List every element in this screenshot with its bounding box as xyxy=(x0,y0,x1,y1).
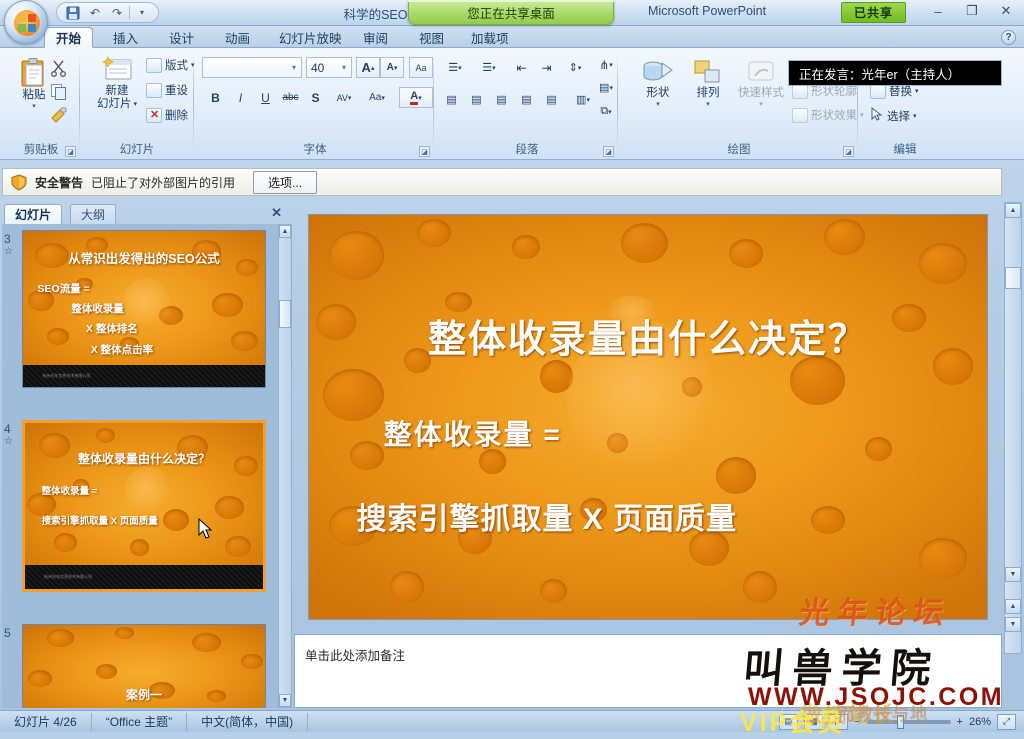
thumbnail-line-4: X 整体点击率 xyxy=(91,342,153,357)
cut-button[interactable] xyxy=(50,59,68,80)
shape-effects-button[interactable]: 形状效果 ▾ xyxy=(792,107,864,123)
office-button[interactable] xyxy=(4,0,48,44)
format-painter-button[interactable] xyxy=(50,107,68,128)
animation-icon: ☆ xyxy=(4,436,13,447)
zoom-in-icon[interactable]: + xyxy=(957,716,963,728)
convert-to-smartart-button[interactable]: ⧉▾ xyxy=(594,101,618,122)
notes-pane[interactable]: 单击此处添加备注 xyxy=(294,634,1002,708)
layout-icon xyxy=(146,58,162,73)
slides-pane-scrollbar[interactable]: ▲ ▼ xyxy=(278,224,292,708)
layout-button[interactable]: 版式 ▾ xyxy=(146,57,195,73)
delete-label: 删除 xyxy=(165,107,188,123)
mouse-cursor xyxy=(198,518,214,540)
thumbnail-frame: 案例一 xyxy=(22,624,266,708)
character-spacing-label: AV xyxy=(337,93,348,103)
select-label: 选择 xyxy=(887,108,910,124)
slide-count-status[interactable]: 幻灯片 4/26 xyxy=(0,713,92,731)
window-controls: – ❐ ✕ xyxy=(926,2,1018,20)
chevron-down-icon[interactable]: ▾ xyxy=(289,63,299,72)
group-separator xyxy=(193,52,194,150)
new-slide-label-line2: 幻灯片 xyxy=(97,98,132,111)
thumbnail-footer: 杭州光年信息技术有限公司 xyxy=(25,565,263,589)
fit-to-window-icon[interactable]: ⤢ xyxy=(997,714,1016,730)
font-size-combo[interactable]: 40 ▾ xyxy=(306,57,352,78)
thumbnail-slide-5[interactable]: 5 案例一 xyxy=(22,624,266,708)
slide-thumbnail-list[interactable]: 3 ☆ xyxy=(2,224,278,708)
security-options-button[interactable]: 选项... xyxy=(253,171,317,194)
tab-review[interactable]: 审阅 xyxy=(352,27,399,48)
reset-label: 重设 xyxy=(165,82,188,98)
notes-placeholder[interactable]: 单击此处添加备注 xyxy=(305,645,405,664)
shape-effects-label: 形状效果 xyxy=(811,107,857,123)
slide-preview: 从常识出发得出的SEO公式 SEO流量 = 整体收录量 X 整体排名 X 整体点… xyxy=(23,231,265,387)
shield-icon xyxy=(11,174,27,191)
character-spacing-button[interactable]: AV ▾ xyxy=(329,87,359,108)
scrollbar-thumb[interactable] xyxy=(279,300,291,328)
thumbnail-line-1: SEO流量 = xyxy=(38,281,90,296)
security-warning-bar: 安全警告 已阻止了对外部图片的引用 选项... xyxy=(2,168,1002,196)
decrease-indent-button[interactable]: ⇤ xyxy=(510,57,533,78)
reset-icon xyxy=(146,83,162,98)
normal-view-icon[interactable]: ▤ xyxy=(779,714,798,730)
slide-editor: 整体收录量由什么决定？ 整体收录量 = 搜索引擎抓取量 X 页面质量 xyxy=(294,202,1002,632)
delete-icon: ✕ xyxy=(146,108,162,123)
chevron-down-icon[interactable]: ▾ xyxy=(339,63,349,72)
close-icon[interactable]: ✕ xyxy=(994,2,1018,20)
scroll-down-icon[interactable]: ▼ xyxy=(1005,567,1021,582)
reset-button[interactable]: 重设 xyxy=(146,82,188,98)
thumbnail-footer-text: 杭州光年信息技术有限公司 xyxy=(23,373,90,379)
tab-slideshow[interactable]: 幻灯片放映 xyxy=(268,27,353,48)
thumbnail-frame: 整体收录量由什么决定？ 整体收录量 = 搜索引擎抓取量 X 页面质量 杭州光年信… xyxy=(22,420,266,592)
undo-icon[interactable]: ↶ xyxy=(85,4,105,21)
numbering-button[interactable]: ☰▾ xyxy=(474,57,504,78)
slide-preview: 整体收录量由什么决定？ 整体收录量 = 搜索引擎抓取量 X 页面质量 杭州光年信… xyxy=(25,423,263,589)
slide-title[interactable]: 整体收录量由什么决定？ xyxy=(309,308,987,363)
grow-font-label: A xyxy=(362,60,371,75)
clear-formatting-button[interactable]: Aa xyxy=(409,57,433,78)
minimize-icon[interactable]: – xyxy=(926,2,950,20)
slide-show-view-icon[interactable]: ▷ xyxy=(829,714,848,730)
thumbnail-number: 3 xyxy=(4,232,11,246)
theme-status[interactable]: “Office 主题” xyxy=(92,713,187,731)
help-icon[interactable]: ? xyxy=(1001,30,1016,45)
tab-addins[interactable]: 加载项 xyxy=(460,27,520,48)
quick-styles-dropdown-icon[interactable]: ▾ xyxy=(759,100,763,108)
distribute-button[interactable]: ▤ xyxy=(540,89,563,110)
current-slide[interactable]: 整体收录量由什么决定？ 整体收录量 = 搜索引擎抓取量 X 页面质量 xyxy=(308,214,988,620)
slide-body-line-2[interactable]: 搜索引擎抓取量 X 页面质量 xyxy=(356,494,737,538)
thumbnail-frame: 从常识出发得出的SEO公式 SEO流量 = 整体收录量 X 整体排名 X 整体点… xyxy=(22,230,266,388)
thumbnail-number: 5 xyxy=(4,626,11,640)
previous-slide-icon[interactable]: ▲ xyxy=(1005,599,1021,614)
tab-outline[interactable]: 大纲 xyxy=(70,204,116,224)
text-shadow-button[interactable]: S xyxy=(304,87,327,108)
application-name: Microsoft PowerPoint xyxy=(648,4,766,18)
paragraph-dialog-launcher-icon[interactable]: ◪ xyxy=(603,146,614,157)
bold-label: B xyxy=(211,91,220,105)
select-button[interactable]: 选择 ▾ xyxy=(870,107,917,124)
redo-icon[interactable]: ↷ xyxy=(107,4,127,21)
thumbnail-title: 从常识出发得出的SEO公式 xyxy=(23,248,265,267)
delete-slide-button[interactable]: ✕ 删除 xyxy=(146,107,188,123)
thumbnail-line-1: 整体收录量 = xyxy=(42,483,98,497)
zoom-percentage[interactable]: 26% xyxy=(969,716,991,728)
status-bar: 幻灯片 4/26 “Office 主题” 中文(简体，中国) ▤ ▦ ▷ − +… xyxy=(0,710,1024,732)
group-clipboard: 粘贴 ▾ xyxy=(2,49,80,159)
close-pane-icon[interactable]: ✕ xyxy=(271,205,282,221)
shapes-label: 形状 xyxy=(647,87,670,100)
thumbnail-number: 4 xyxy=(4,422,11,436)
slide-body-line-1[interactable]: 整体收录量 = xyxy=(384,413,562,453)
shared-status-badge: 已共享 xyxy=(841,2,906,23)
tab-home[interactable]: 开始 xyxy=(44,27,93,48)
status-right-controls: ▤ ▦ ▷ − + 26% ⤢ xyxy=(779,714,1024,730)
change-case-label: Aa xyxy=(369,92,381,103)
justify-button[interactable]: ▤ xyxy=(515,89,538,110)
italic-button[interactable]: I xyxy=(229,87,252,108)
new-slide-button[interactable]: 新建 幻灯片 ▾ xyxy=(88,55,146,111)
group-separator xyxy=(433,52,434,150)
desktop-sharing-toast[interactable]: 您正在共享桌面 xyxy=(408,0,614,25)
italic-label: I xyxy=(239,91,242,105)
font-group-label: 字体 xyxy=(196,141,434,157)
next-slide-icon[interactable]: ▼ xyxy=(1005,617,1021,632)
layout-label: 版式 xyxy=(165,57,188,73)
slide-scrollbar[interactable]: ▲ ▼ ▲ ▼ xyxy=(1004,202,1022,654)
arrange-button[interactable]: 排列 ▾ xyxy=(682,59,734,108)
security-warning-message: 已阻止了对外部图片的引用 xyxy=(91,174,235,191)
thumbnail-line-3: X 整体排名 xyxy=(86,321,138,336)
scroll-up-icon[interactable]: ▲ xyxy=(1005,203,1021,218)
slides-group-label: 幻灯片 xyxy=(80,141,194,157)
group-paragraph: ☰▾ ☰▾ ⇤ ⇥ ⇕▾ ⋔▾ ▤▾ ▤ ▤ ▤ ▤ ▤ ▥▾ ⧉▾ 段落 ◪ xyxy=(436,49,618,159)
arrange-label: 排列 xyxy=(697,87,720,100)
text-direction-button[interactable]: ⋔▾ xyxy=(594,54,618,75)
qat-separator xyxy=(129,6,130,19)
slide-canvas[interactable]: 整体收录量由什么决定？ 整体收录量 = 搜索引擎抓取量 X 页面质量 xyxy=(309,215,987,619)
pointer-icon xyxy=(870,107,884,124)
powerpoint-window: 科学的SEO方法与案例 Microsoft PowerPoint 已共享 – ❐… xyxy=(0,0,1024,732)
slides-pane-tabs: 幻灯片 大纲 ✕ xyxy=(0,202,292,224)
thumbnail-title: 整体收录量由什么决定？ xyxy=(25,450,263,467)
shape-effects-icon xyxy=(792,108,808,123)
thumbnail-line-2: 搜索引擎抓取量 X 页面质量 xyxy=(42,513,158,527)
tab-animations[interactable]: 动画 xyxy=(214,27,261,48)
security-warning-title: 安全警告 xyxy=(35,174,83,191)
editing-group-label: 编辑 xyxy=(860,141,950,157)
speaking-indicator-overlay: 正在发言：光年er（主持人） xyxy=(788,60,1002,86)
scroll-up-icon[interactable]: ▲ xyxy=(279,225,291,238)
font-dialog-launcher-icon[interactable]: ◪ xyxy=(419,146,430,157)
quick-styles-button[interactable]: 快速样式 ▾ xyxy=(732,59,790,108)
align-center-button[interactable]: ▤ xyxy=(465,89,488,110)
paragraph-group-label: 段落 xyxy=(436,141,618,157)
zoom-slider-knob[interactable] xyxy=(897,715,904,729)
underline-label: U xyxy=(261,91,270,105)
font-size-value: 40 xyxy=(311,61,324,75)
drawing-dialog-launcher-icon[interactable]: ◪ xyxy=(843,146,854,157)
font-color-label: A xyxy=(410,90,418,105)
slide-sorter-view-icon[interactable]: ▦ xyxy=(804,714,823,730)
align-right-button[interactable]: ▤ xyxy=(490,89,513,110)
bullets-button[interactable]: ☰▾ xyxy=(440,57,470,78)
customize-qat-icon[interactable]: ▾ xyxy=(132,4,152,21)
shapes-button[interactable]: 形状 ▾ xyxy=(632,59,684,108)
increase-indent-button[interactable]: ⇥ xyxy=(535,57,558,78)
tab-view[interactable]: 视图 xyxy=(408,27,455,48)
new-slide-label-line1: 新建 xyxy=(106,85,129,98)
quick-styles-label: 快速样式 xyxy=(738,87,784,100)
shrink-font-button[interactable]: A ▾ xyxy=(380,57,404,78)
thumbnail-slide-4[interactable]: 4 ☆ xyxy=(22,420,266,592)
thumbnail-title: 案例一 xyxy=(23,686,265,703)
group-slides: 新建 幻灯片 ▾ 版式 ▾ 重设 ✕ 删除 幻灯片 xyxy=(80,49,194,159)
ribbon-tab-strip: 开始 插入 设计 动画 幻灯片放映 审阅 视图 加载项 ? xyxy=(0,26,1024,48)
new-slide-dropdown-icon[interactable]: ▾ xyxy=(133,98,137,111)
change-case-button[interactable]: Aa ▾ xyxy=(362,87,392,108)
restore-icon[interactable]: ❐ xyxy=(960,2,984,20)
font-color-button[interactable]: A ▾ xyxy=(399,87,433,108)
thumbnail-footer-text: 杭州光年信息技术有限公司 xyxy=(25,574,92,580)
arrange-dropdown-icon[interactable]: ▾ xyxy=(706,100,710,108)
copy-button[interactable] xyxy=(50,83,68,104)
clear-formatting-label: Aa xyxy=(415,63,426,73)
scrollbar-thumb[interactable] xyxy=(1005,267,1021,289)
paste-dropdown-icon[interactable]: ▾ xyxy=(32,102,36,110)
zoom-slider[interactable] xyxy=(867,720,951,724)
strikethrough-button[interactable]: abc xyxy=(279,87,302,108)
scroll-down-icon[interactable]: ▼ xyxy=(279,694,291,707)
animation-icon: ☆ xyxy=(4,246,13,257)
language-status[interactable]: 中文(简体，中国) xyxy=(187,713,308,731)
thumbnail-line-2: 整体收录量 xyxy=(71,301,124,316)
shapes-dropdown-icon[interactable]: ▾ xyxy=(656,100,660,108)
clipboard-dialog-launcher-icon[interactable]: ◪ xyxy=(65,146,76,157)
tab-slides[interactable]: 幻灯片 xyxy=(4,204,62,224)
quick-access-toolbar: ↶ ↷ ▾ xyxy=(56,2,159,23)
slides-pane: 幻灯片 大纲 ✕ 3 ☆ xyxy=(0,202,292,708)
office-logo-icon xyxy=(14,10,40,36)
drawing-group-label: 绘图 xyxy=(620,141,858,157)
thumbnail-slide-3[interactable]: 3 ☆ xyxy=(22,230,266,388)
grow-font-button[interactable]: A ▴ xyxy=(356,57,380,78)
shrink-font-label: A xyxy=(387,62,394,73)
group-font: ▾ 40 ▾ A ▴ A ▾ Aa B I U abc S AV xyxy=(196,49,434,159)
tab-insert[interactable]: 插入 xyxy=(102,27,149,48)
zoom-out-icon[interactable]: − xyxy=(854,716,860,728)
underline-button[interactable]: U xyxy=(254,87,277,108)
font-name-combo[interactable]: ▾ xyxy=(202,57,302,78)
strikethrough-label: abc xyxy=(282,92,298,103)
thumbnail-footer: 杭州光年信息技术有限公司 xyxy=(23,365,265,387)
slide-preview: 案例一 xyxy=(23,625,265,708)
text-shadow-label: S xyxy=(311,91,319,105)
tab-design[interactable]: 设计 xyxy=(158,27,205,48)
align-left-button[interactable]: ▤ xyxy=(440,89,463,110)
bold-button[interactable]: B xyxy=(204,87,227,108)
share-toast-notch xyxy=(408,0,614,2)
save-icon[interactable] xyxy=(63,4,83,21)
group-separator xyxy=(617,52,618,150)
line-spacing-button[interactable]: ⇕▾ xyxy=(560,57,590,78)
paste-label: 粘贴 xyxy=(23,89,46,102)
